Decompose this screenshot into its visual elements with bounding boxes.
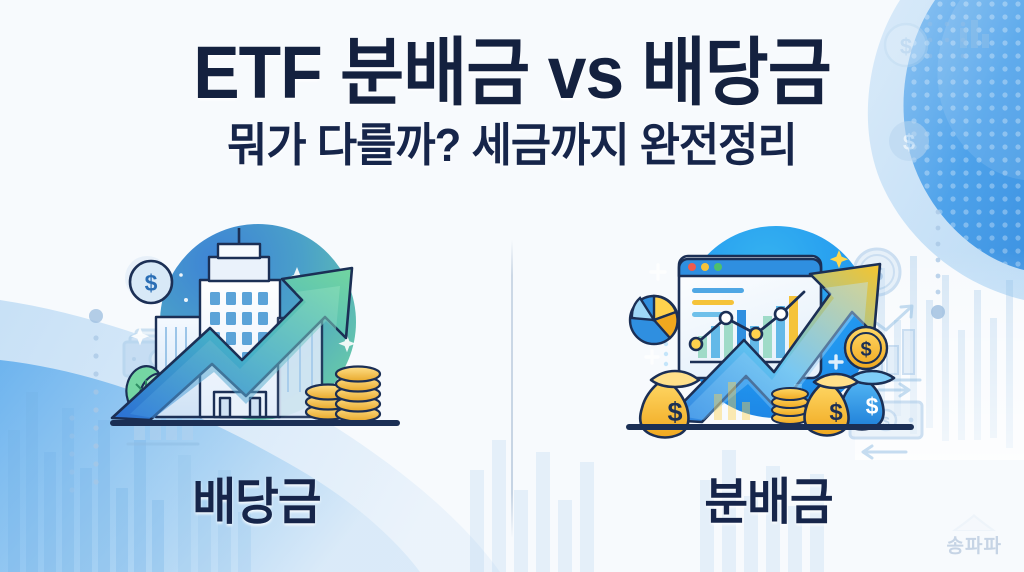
svg-text:$: $ (667, 397, 682, 427)
panel-dividend[interactable]: $ (0, 222, 512, 552)
watermark-text: 송파파 (947, 531, 1002, 558)
gold-coin-icon: $ (845, 327, 887, 369)
panel-label-distribution: 분배금 (704, 462, 832, 534)
distribution-illustration: $ $ (618, 222, 918, 440)
watermark: 송파파 (947, 512, 1002, 558)
headline-block: ETF 분배금 vs 배당금 뭐가 다를까? 세금까지 완전정리 (0, 36, 1024, 168)
panel-distribution[interactable]: $ $ (512, 222, 1024, 552)
ground-line (626, 424, 914, 430)
svg-text:$: $ (866, 393, 879, 419)
ground-line (110, 420, 400, 426)
dividend-illustration: $ (106, 222, 406, 440)
pie-chart-icon (630, 296, 678, 344)
panel-label-dividend: 배당금 (192, 462, 320, 534)
comparison-panels: $ (0, 222, 1024, 552)
page-subtitle: 뭐가 다를까? 세금까지 완전정리 (26, 122, 999, 168)
svg-text:$: $ (145, 270, 158, 296)
panel-divider (511, 240, 513, 538)
dollar-coin-icon: $ (130, 261, 172, 303)
svg-text:$: $ (860, 339, 871, 361)
svg-text:$: $ (829, 399, 843, 426)
page-title: ETF 분배금 vs 배당금 (31, 36, 994, 110)
coin-stack-small (772, 388, 808, 424)
poster-canvas: ₩ $ $ (0, 0, 1024, 572)
